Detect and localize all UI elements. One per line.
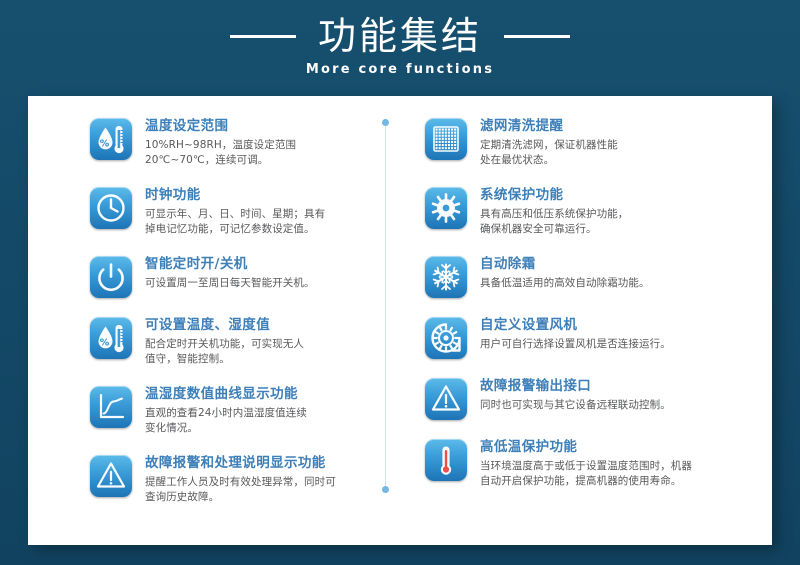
filter-grid-icon	[425, 118, 467, 160]
thermometer-icon	[425, 439, 467, 481]
svg-text:%: %	[100, 338, 110, 349]
feature-title: 可设置温度、湿度值	[145, 317, 390, 334]
feature-item: 自定义设置风机用户可自行选择设置风机是否连接运行。	[425, 317, 745, 359]
feature-text: 故障报警和处理说明显示功能提醒工作人员及时有效处理异常，同时可 查询历史故障。	[145, 455, 390, 505]
feature-text: 时钟功能可显示年、月、日、时间、星期；具有 掉电记忆功能，可记忆参数设定值。	[145, 187, 390, 237]
feature-title: 滤网清洗提醒	[480, 118, 745, 135]
snowflake-icon	[425, 256, 467, 298]
feature-title: 系统保护功能	[480, 187, 745, 204]
feature-item: % 温度设定范围10%RH~98RH，温度设定范围 20℃~70℃，连续可调。	[90, 118, 390, 168]
feature-item: 自动除霜具备低温适用的高效自动除霜功能。	[425, 256, 745, 298]
feature-title: 高低温保护功能	[480, 439, 745, 456]
feature-description: 可显示年、月、日、时间、星期；具有 掉电记忆功能，可记忆参数设定值。	[145, 207, 390, 237]
feature-column-right: 滤网清洗提醒定期清洗滤网，保证机器性能 处在最优状态。 系统保护功能具有高压和低…	[425, 118, 745, 508]
feature-title: 自定义设置风机	[480, 317, 745, 334]
feature-description: 当环境温度高于或低于设置温度范围时，机器 自动开启保护功能，提高机器的使用寿命。	[480, 459, 745, 489]
feature-text: 温度设定范围10%RH~98RH，温度设定范围 20℃~70℃，连续可调。	[145, 118, 390, 168]
power-icon	[90, 256, 132, 298]
page-title: 功能集结	[318, 14, 482, 58]
feature-text: 故障报警输出接口同时也可实现与其它设备远程联动控制。	[480, 378, 745, 413]
feature-text: 滤网清洗提醒定期清洗滤网，保证机器性能 处在最优状态。	[480, 118, 745, 168]
feature-description: 定期清洗滤网，保证机器性能 处在最优状态。	[480, 138, 745, 168]
feature-description: 可设置周一至周日每天智能开关机。	[145, 276, 390, 291]
title-row: 功能集结	[0, 14, 800, 58]
features-panel: % 温度设定范围10%RH~98RH，温度设定范围 20℃~70℃，连续可调。 …	[28, 96, 772, 545]
humidity-thermometer-icon: %	[90, 317, 132, 359]
svg-text:%: %	[100, 139, 110, 150]
feature-item: 滤网清洗提醒定期清洗滤网，保证机器性能 处在最优状态。	[425, 118, 745, 168]
feature-description: 10%RH~98RH，温度设定范围 20℃~70℃，连续可调。	[145, 138, 390, 168]
feature-description: 同时也可实现与其它设备远程联动控制。	[480, 398, 745, 413]
feature-text: 智能定时开/关机可设置周一至周日每天智能开关机。	[145, 256, 390, 291]
feature-item: 系统保护功能具有高压和低压系统保护功能， 确保机器安全可靠运行。	[425, 187, 745, 237]
feature-text: 可设置温度、湿度值配合定时开关机功能，可实现无人 值守，智能控制。	[145, 317, 390, 367]
feature-column-left: % 温度设定范围10%RH~98RH，温度设定范围 20℃~70℃，连续可调。 …	[90, 118, 390, 524]
feature-item: 智能定时开/关机可设置周一至周日每天智能开关机。	[90, 256, 390, 298]
page-subtitle: More core functions	[0, 62, 800, 77]
feature-title: 时钟功能	[145, 187, 390, 204]
feature-text: 系统保护功能具有高压和低压系统保护功能， 确保机器安全可靠运行。	[480, 187, 745, 237]
feature-item: 故障报警和处理说明显示功能提醒工作人员及时有效处理异常，同时可 查询历史故障。	[90, 455, 390, 505]
feature-item: 时钟功能可显示年、月、日、时间、星期；具有 掉电记忆功能，可记忆参数设定值。	[90, 187, 390, 237]
feature-title: 智能定时开/关机	[145, 256, 390, 273]
feature-description: 提醒工作人员及时有效处理异常，同时可 查询历史故障。	[145, 475, 390, 505]
warning-triangle-icon	[425, 378, 467, 420]
blower-fan-icon	[425, 317, 467, 359]
curve-chart-icon	[90, 386, 132, 428]
title-rule-left	[230, 35, 296, 38]
feature-title: 故障报警输出接口	[480, 378, 745, 395]
feature-item: 高低温保护功能当环境温度高于或低于设置温度范围时，机器 自动开启保护功能，提高机…	[425, 439, 745, 489]
feature-description: 具备低温适用的高效自动除霜功能。	[480, 276, 745, 291]
gear-icon	[425, 187, 467, 229]
feature-description: 用户可自行选择设置风机是否连接运行。	[480, 337, 745, 352]
feature-text: 自定义设置风机用户可自行选择设置风机是否连接运行。	[480, 317, 745, 352]
feature-text: 温湿度数值曲线显示功能直观的查看24小时内温湿度值连续 变化情况。	[145, 386, 390, 436]
clock-icon	[90, 187, 132, 229]
feature-description: 直观的查看24小时内温湿度值连续 变化情况。	[145, 406, 390, 436]
feature-item: 故障报警输出接口同时也可实现与其它设备远程联动控制。	[425, 378, 745, 420]
humidity-thermometer-icon: %	[90, 118, 132, 160]
page-root: 功能集结 More core functions %	[0, 0, 800, 565]
feature-title: 自动除霜	[480, 256, 745, 273]
title-rule-right	[504, 35, 570, 38]
feature-text: 高低温保护功能当环境温度高于或低于设置温度范围时，机器 自动开启保护功能，提高机…	[480, 439, 745, 489]
warning-triangle-icon	[90, 455, 132, 497]
feature-text: 自动除霜具备低温适用的高效自动除霜功能。	[480, 256, 745, 291]
page-header: 功能集结 More core functions	[0, 0, 800, 96]
feature-description: 配合定时开关机功能，可实现无人 值守，智能控制。	[145, 337, 390, 367]
feature-title: 故障报警和处理说明显示功能	[145, 455, 390, 472]
feature-item: 温湿度数值曲线显示功能直观的查看24小时内温湿度值连续 变化情况。	[90, 386, 390, 436]
feature-title: 温湿度数值曲线显示功能	[145, 386, 390, 403]
feature-description: 具有高压和低压系统保护功能， 确保机器安全可靠运行。	[480, 207, 745, 237]
feature-item: % 可设置温度、湿度值配合定时开关机功能，可实现无人 值守，智能控制。	[90, 317, 390, 367]
feature-title: 温度设定范围	[145, 118, 390, 135]
